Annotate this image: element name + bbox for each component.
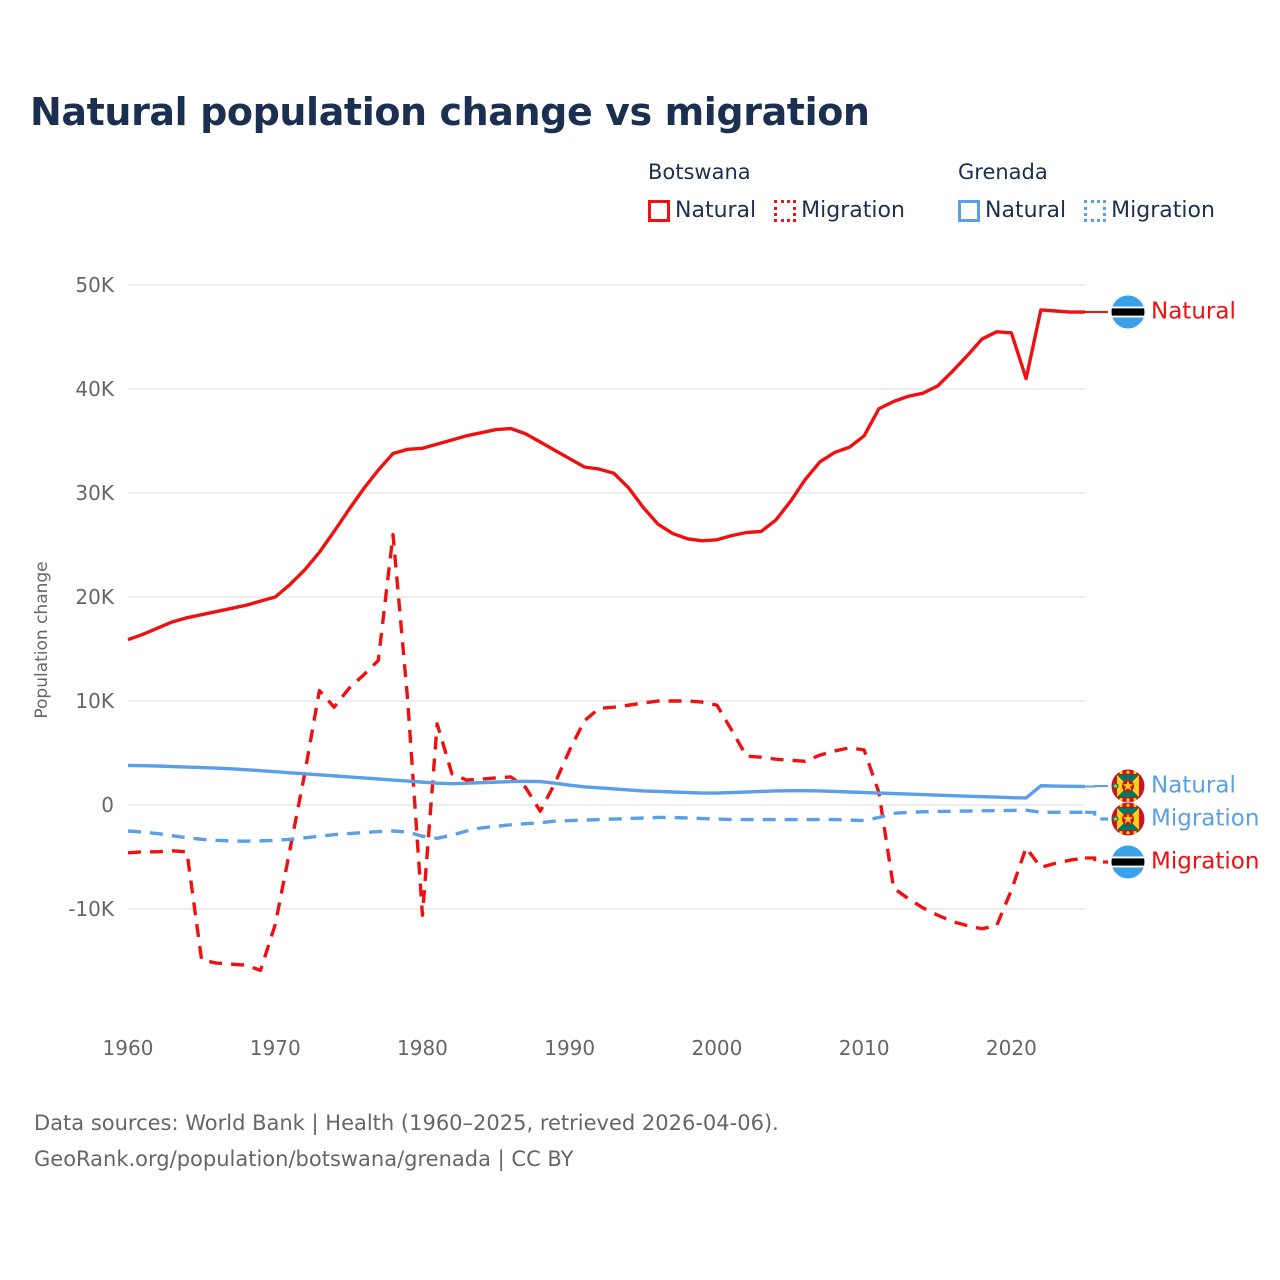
y-tick-label: 30K xyxy=(75,481,114,505)
series-line-botswana-natural xyxy=(128,310,1085,640)
annotation-label-grenada-migration: Migration xyxy=(1151,806,1259,832)
annotation-leader-line xyxy=(1085,812,1108,819)
y-tick-label: 50K xyxy=(75,273,114,297)
series-line-grenada-natural xyxy=(128,765,1085,797)
x-tick-label: 1980 xyxy=(397,1036,448,1060)
annotation-leader-line xyxy=(1085,858,1108,862)
chart-x-tick-labels: 1960197019801990200020102020 xyxy=(103,1036,1037,1060)
x-tick-label: 2010 xyxy=(839,1036,890,1060)
flag-icon-grenada xyxy=(1111,802,1145,836)
chart-footer: Data sources: World Bank | Health (1960–… xyxy=(34,1105,779,1177)
series-line-grenada-migration xyxy=(128,810,1085,841)
x-tick-label: 1960 xyxy=(103,1036,154,1060)
flag-icon-botswana xyxy=(1111,845,1145,879)
annotation-label-botswana-natural: Natural xyxy=(1151,299,1236,325)
chart-annotations-layer: NaturalNaturalMigrationMigration xyxy=(1085,295,1259,879)
annotation-label-grenada-natural: Natural xyxy=(1151,773,1236,799)
chart-y-tick-labels: -10K010K20K30K40K50K xyxy=(68,273,115,921)
x-tick-label: 2000 xyxy=(691,1036,742,1060)
y-tick-label: 0 xyxy=(101,793,114,817)
chart-plot-area: -10K010K20K30K40K50K 1960197019801990200… xyxy=(0,0,1280,1280)
x-tick-label: 2020 xyxy=(986,1036,1037,1060)
series-line-botswana-migration xyxy=(128,535,1085,971)
annotation-leader-line xyxy=(1085,786,1108,787)
flag-icon-botswana xyxy=(1111,295,1145,329)
y-tick-label: 40K xyxy=(75,377,114,401)
y-tick-label: -10K xyxy=(68,897,115,921)
y-tick-label: 10K xyxy=(75,689,114,713)
chart-series-layer xyxy=(128,310,1085,970)
x-tick-label: 1970 xyxy=(250,1036,301,1060)
footer-line-sources: Data sources: World Bank | Health (1960–… xyxy=(34,1105,779,1141)
chart-y-axis-label: Population change xyxy=(32,561,52,718)
annotation-label-botswana-migration: Migration xyxy=(1151,849,1259,875)
footer-line-attribution[interactable]: GeoRank.org/population/botswana/grenada … xyxy=(34,1141,779,1177)
x-tick-label: 1990 xyxy=(544,1036,595,1060)
flag-icon-grenada xyxy=(1111,769,1145,803)
y-tick-label: 20K xyxy=(75,585,114,609)
